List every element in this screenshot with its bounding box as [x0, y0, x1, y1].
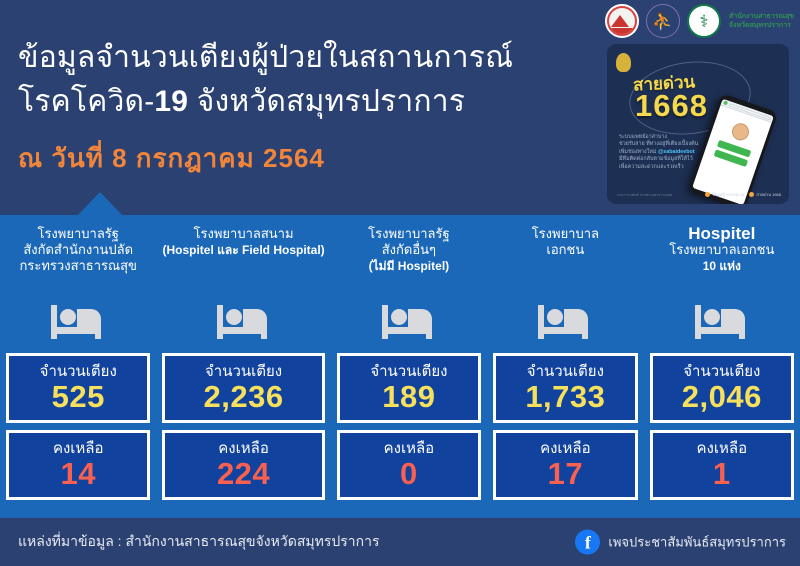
available-beds-label-4: คงเหลือ	[540, 440, 591, 457]
hotline-desc-line3-pre: เพิ่มช่องทางใหม่	[619, 149, 658, 155]
column-hospitel: Hospitel โรงพยาบาลเอกชน 10 แห่ง จำนวนเตี…	[644, 215, 800, 518]
column-header-5-line2: โรงพยาบาลเอกชน	[669, 242, 774, 258]
hospital-bed-icon	[49, 293, 107, 351]
logo-row: ⛹ ⚕ สำนักงานสาธารณสุข จังหวัดสมุทรปราการ	[605, 4, 794, 38]
page-title-line2-c: จังหวัดสมุทรปราการ	[188, 85, 465, 118]
available-beds-label-2: คงเหลือ	[218, 440, 269, 457]
available-beds-label-3: คงเหลือ	[384, 440, 435, 457]
column-header-5: Hospitel โรงพยาบาลเอกชน 10 แห่ง	[669, 215, 774, 293]
column-header-4-line1: โรงพยาบาล	[532, 226, 599, 242]
sport-authority-logo: ⛹	[646, 4, 680, 38]
page-title-line2: โรคโควิด-19 จังหวัดสมุทรปราการ	[18, 80, 598, 124]
total-beds-card-5: จำนวนเตียง 2,046	[650, 353, 794, 423]
column-header-2-line2: (Hospitel และ Field Hospital)	[162, 242, 324, 258]
title-block: ข้อมูลจำนวนเตียงผู้ป่วยในสถานการณ์ โรคโค…	[18, 36, 598, 179]
available-beds-value-1: 14	[60, 457, 95, 490]
hotline-desc-line4: มีทีมติดต่อกลับตามข้อมูลที่ให้ไว้	[619, 156, 729, 163]
hotline-description: ระบบแพทย์อาสาบาง ช่วยรับสาย ที่ทางอยู่ที…	[619, 134, 729, 171]
ministry-logo-text: สำนักงานสาธารณสุข จังหวัดสมุทรปราการ	[728, 12, 794, 30]
total-beds-label-5: จำนวนเตียง	[683, 363, 760, 380]
total-beds-label-2: จำนวนเตียง	[205, 363, 282, 380]
column-header-1: โรงพยาบาลรัฐ สังกัดสำนักงานปลัด กระทรวงส…	[20, 215, 137, 293]
available-beds-card-3: คงเหลือ 0	[337, 430, 481, 500]
column-header-2-line1: โรงพยาบาลสนาม	[194, 226, 294, 242]
total-beds-card-1: จำนวนเตียง 525	[6, 353, 150, 423]
facebook-icon[interactable]: f	[575, 530, 600, 555]
available-beds-card-1: คงเหลือ 14	[6, 430, 150, 500]
total-beds-card-4: จำนวนเตียง 1,733	[493, 353, 637, 423]
hospital-bed-icon	[215, 293, 273, 351]
column-public-hospital-other: โรงพยาบาลรัฐ สังกัดอื่นๆ (ไม่มี Hospitel…	[331, 215, 487, 518]
available-beds-card-2: คงเหลือ 224	[162, 430, 324, 500]
column-header-3-line3: (ไม่มี Hospitel)	[369, 258, 450, 274]
caduceus-icon: ⚕	[699, 13, 708, 30]
available-beds-label-1: คงเหลือ	[53, 440, 104, 457]
footer-bar: แหล่งที่มาข้อมูล : สำนักงานสาธารณสุขจังห…	[0, 518, 800, 566]
hospital-columns: โรงพยาบาลรัฐ สังกัดสำนักงานปลัด กระทรวงส…	[0, 215, 800, 518]
column-header-3-line1: โรงพยาบาลรัฐ	[368, 226, 449, 242]
page-title-line2-b: 19	[154, 85, 188, 118]
column-header-1-line2: สังกัดสำนักงานปลัด	[23, 242, 133, 258]
column-header-1-line1: โรงพยาบาลรัฐ	[37, 226, 118, 242]
column-header-2: โรงพยาบาลสนาม (Hospitel และ Field Hospit…	[162, 215, 324, 293]
hospital-bed-icon	[380, 293, 438, 351]
column-private-hospital: โรงพยาบาล เอกชน จำนวนเตียง 1,733 ค	[487, 215, 643, 518]
available-beds-value-5: 1	[713, 457, 731, 490]
stat-cards-2: จำนวนเตียง 2,236 คงเหลือ 224	[162, 353, 324, 507]
column-field-hospital: โรงพยาบาลสนาม (Hospitel และ Field Hospit…	[156, 215, 330, 518]
available-beds-card-5: คงเหลือ 1	[650, 430, 794, 500]
triangle-pointer-icon	[78, 192, 122, 215]
hospital-bed-icon	[693, 293, 751, 351]
total-beds-label-1: จำนวนเตียง	[40, 363, 117, 380]
facebook-page-label: เพจประชาสัมพันธ์สมุทรปราการ	[608, 532, 786, 553]
total-beds-label-4: จำนวนเตียง	[527, 363, 604, 380]
hospital-bed-icon	[536, 293, 594, 351]
hotline-badge-2: สายด่วน 1668	[749, 191, 781, 198]
ministry-of-public-health-logo: ⚕	[687, 4, 721, 38]
hotline-desc-line2: ช่วยรับสาย ที่ทางอยู่ที่เตียงเบื้องต้น	[619, 141, 729, 148]
stat-cards-4: จำนวนเตียง 1,733 คงเหลือ 17	[493, 353, 637, 507]
hotline-number: 1668	[635, 88, 708, 124]
ministry-logo-text-line1: สำนักงานสาธารณสุข	[729, 12, 794, 21]
hotline-badge-1: ข้อมูลสู้ COVID-19	[705, 191, 744, 198]
total-beds-card-3: จำนวนเตียง 189	[337, 353, 481, 423]
header-banner: ⛹ ⚕ สำนักงานสาธารณสุข จังหวัดสมุทรปราการ…	[0, 0, 800, 215]
chatbot-avatar	[729, 121, 751, 143]
column-header-5-line1: Hospitel	[688, 226, 755, 242]
column-header-3-line2: สังกัดอื่นๆ	[382, 242, 436, 258]
chat-app-bar	[720, 99, 773, 123]
total-beds-value-1: 525	[52, 380, 105, 413]
stat-cards-5: จำนวนเตียง 2,046 คงเหลือ 1	[650, 353, 794, 507]
total-beds-value-3: 189	[382, 380, 435, 413]
ministry-logo-text-line2: จังหวัดสมุทรปราการ	[729, 21, 794, 30]
column-header-3: โรงพยาบาลรัฐ สังกัดอื่นๆ (ไม่มี Hospitel…	[368, 215, 449, 293]
hotline-desc-line5: เพื่อความสะดวกและรวดเร็ว	[619, 164, 729, 171]
column-header-5-line3: 10 แห่ง	[703, 258, 741, 274]
total-beds-label-3: จำนวนเตียง	[370, 363, 447, 380]
infographic-poster: ⛹ ⚕ สำนักงานสาธารณสุข จังหวัดสมุทรปราการ…	[0, 0, 800, 566]
total-beds-value-4: 1,733	[525, 380, 605, 413]
hotline-footer-note: กรมการแพทย์ กระทรวงสาธารณสุข	[617, 192, 672, 198]
available-beds-value-2: 224	[217, 457, 270, 490]
stat-cards-3: จำนวนเตียง 189 คงเหลือ 0	[337, 353, 481, 507]
column-public-hospital-moph: โรงพยาบาลรัฐ สังกัดสำนักงานปลัด กระทรวงส…	[0, 215, 156, 518]
available-beds-value-3: 0	[400, 457, 418, 490]
facebook-page-link[interactable]: f เพจประชาสัมพันธ์สมุทรปราการ	[575, 530, 786, 555]
hotline-badge-row: ข้อมูลสู้ COVID-19 สายด่วน 1668	[705, 191, 781, 198]
royal-crest-icon	[616, 53, 631, 72]
stat-cards-1: จำนวนเตียง 525 คงเหลือ 14	[6, 353, 150, 507]
province-seal-logo	[605, 4, 639, 38]
page-title-line1: ข้อมูลจำนวนเตียงผู้ป่วยในสถานการณ์	[18, 36, 598, 80]
column-header-4-line2: เอกชน	[546, 242, 584, 258]
sport-icon: ⛹	[652, 13, 673, 30]
available-beds-value-4: 17	[548, 457, 583, 490]
total-beds-card-2: จำนวนเตียง 2,236	[162, 353, 324, 423]
hotline-promo-card: สายด่วน 1668 ระบบแพทย์อาสาบาง ช่วยรับสาย…	[607, 44, 789, 204]
available-beds-card-4: คงเหลือ 17	[493, 430, 637, 500]
report-date: ณ วันที่ 8 กรกฎาคม 2564	[18, 138, 598, 179]
available-beds-label-5: คงเหลือ	[697, 440, 748, 457]
column-header-1-line3: กระทรวงสาธารณสุข	[20, 258, 137, 274]
hotline-bot-handle: @sabaideebot	[658, 149, 695, 155]
data-source-text: แหล่งที่มาข้อมูล : สำนักงานสาธารณสุขจังห…	[0, 531, 379, 553]
column-header-4: โรงพยาบาล เอกชน	[532, 215, 599, 293]
total-beds-value-2: 2,236	[204, 380, 284, 413]
total-beds-value-5: 2,046	[682, 380, 762, 413]
page-title-line2-a: โรคโควิด-	[18, 85, 154, 118]
